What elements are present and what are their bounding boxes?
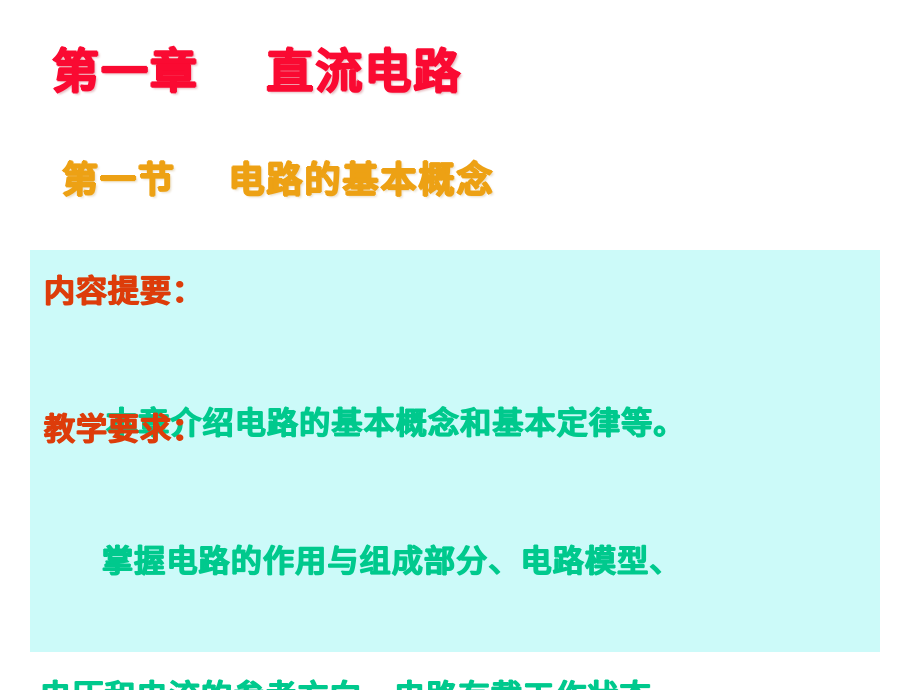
section-title: 第一节 电路的基本概念 <box>62 158 495 203</box>
requirement-line-2: 电压和电流的参考方向、电路有载工作状态、 <box>40 675 880 690</box>
content-panel: 内容提要： 本章介绍电路的基本概念和基本定律等。 教学要求： 掌握电路的作用与组… <box>30 250 880 652</box>
requirement-line-1: 掌握电路的作用与组成部分、电路模型、 <box>40 540 880 585</box>
requirement-body: 掌握电路的作用与组成部分、电路模型、 电压和电流的参考方向、电路有载工作状态、 … <box>40 450 880 690</box>
requirement-heading: 教学要求： <box>44 404 204 449</box>
presentation-slide: 第一章 直流电路 第一节 电路的基本概念 内容提要： 本章介绍电路的基本概念和基… <box>0 0 920 690</box>
content-panel-inner: 内容提要： 本章介绍电路的基本概念和基本定律等。 教学要求： 掌握电路的作用与组… <box>30 250 880 652</box>
chapter-title: 第一章 直流电路 <box>52 44 462 103</box>
summary-heading: 内容提要： <box>44 266 204 311</box>
